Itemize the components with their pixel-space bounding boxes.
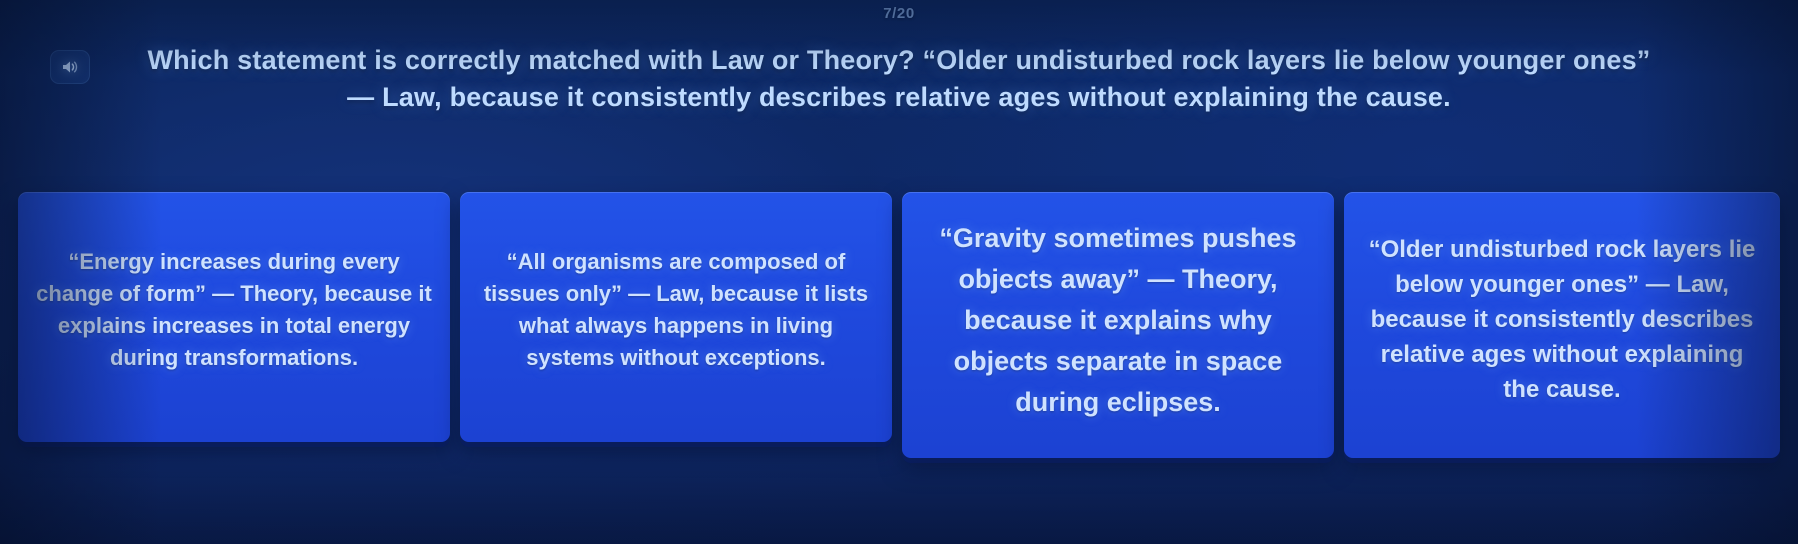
question-row: Which statement is correctly matched wit… — [0, 42, 1798, 116]
progress-counter: 7/20 — [0, 5, 1798, 22]
answer-option-4[interactable]: “Older undisturbed rock layers lie below… — [1344, 192, 1780, 458]
answer-option-3-label: “Gravity sometimes pushes objects away” … — [916, 218, 1320, 423]
quiz-screen: 7/20 Which statement is correctly matche… — [0, 0, 1798, 544]
answer-option-3[interactable]: “Gravity sometimes pushes objects away” … — [902, 192, 1334, 458]
speaker-icon-button[interactable] — [50, 50, 90, 84]
answer-option-2-label: “All organisms are composed of tissues o… — [474, 246, 878, 374]
speaker-icon — [61, 59, 79, 75]
answer-options-grid: “Energy increases during every change of… — [18, 192, 1780, 458]
answer-option-1-label: “Energy increases during every change of… — [32, 246, 436, 374]
answer-option-2[interactable]: “All organisms are composed of tissues o… — [460, 192, 892, 442]
question-text: Which statement is correctly matched wit… — [139, 42, 1659, 116]
answer-option-1[interactable]: “Energy increases during every change of… — [18, 192, 450, 442]
answer-option-4-label: “Older undisturbed rock layers lie below… — [1360, 232, 1764, 407]
